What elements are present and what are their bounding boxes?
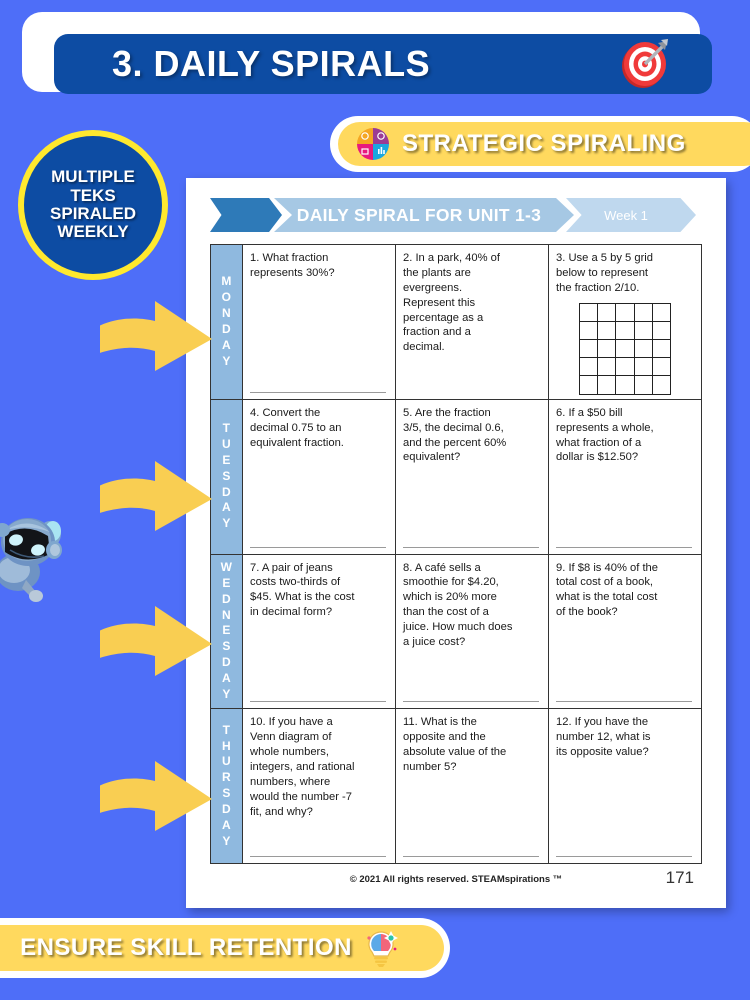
daily-spiral-table: MONDAY 1. What fraction represents 30%? … <box>210 244 702 864</box>
question-cell-11[interactable]: 11. What is the opposite and the absolut… <box>396 709 549 863</box>
question-cell-6[interactable]: 6. If a $50 bill represents a whole, wha… <box>549 400 701 554</box>
title-bar-outer: 3. DAILY SPIRALS <box>22 12 700 92</box>
grid-cell[interactable] <box>598 358 616 376</box>
answer-line[interactable] <box>250 392 386 393</box>
grid-cell[interactable] <box>653 322 671 340</box>
answer-line[interactable] <box>556 547 692 548</box>
question-text: 6. If a $50 bill represents a whole, wha… <box>556 406 694 466</box>
question-text: 10. If you have a Venn diagram of whole … <box>250 715 388 819</box>
badge-line-4: WEEKLY <box>57 223 128 241</box>
question-cell-10[interactable]: 10. If you have a Venn diagram of whole … <box>243 709 396 863</box>
badge-line-1: MULTIPLE <box>51 168 135 186</box>
title-bar: 3. DAILY SPIRALS <box>54 34 712 94</box>
grid-cell[interactable] <box>598 322 616 340</box>
answer-line[interactable] <box>556 856 692 857</box>
banner-segment-start <box>210 198 282 232</box>
worksheet-banner: DAILY SPIRAL FOR UNIT 1-3 Week 1 <box>210 198 700 232</box>
strategic-spiraling-label: STRATEGIC SPIRALING <box>402 130 686 158</box>
five-by-five-grid[interactable] <box>579 303 671 395</box>
curved-arrow-right-icon <box>100 600 220 680</box>
question-cell-2[interactable]: 2. In a park, 40% of the plants are ever… <box>396 245 549 399</box>
ensure-skill-retention-pill: ENSURE SKILL RETENTION <box>0 925 444 971</box>
steam-quadrant-logo-icon <box>356 127 390 161</box>
question-cell-4[interactable]: 4. Convert the decimal 0.75 to an equiva… <box>243 400 396 554</box>
answer-line[interactable] <box>556 701 692 702</box>
question-cell-5[interactable]: 5. Are the fraction 3/5, the decimal 0.6… <box>396 400 549 554</box>
grid-cell[interactable] <box>653 358 671 376</box>
grid-cell[interactable] <box>580 358 598 376</box>
question-text: 5. Are the fraction 3/5, the decimal 0.6… <box>403 406 541 466</box>
question-text: 2. In a park, 40% of the plants are ever… <box>403 251 541 355</box>
question-text: 8. A café sells a smoothie for $4.20, wh… <box>403 561 541 650</box>
grid-cell[interactable] <box>598 304 616 322</box>
ensure-skill-retention-pill-outer: ENSURE SKILL RETENTION <box>0 918 450 978</box>
grid-cell[interactable] <box>653 304 671 322</box>
lightbulb-brain-icon <box>364 929 398 967</box>
grid-cell[interactable] <box>580 340 598 358</box>
worksheet-footer: © 2021 All rights reserved. STEAMspirati… <box>186 874 726 894</box>
curved-arrow-right-icon <box>100 295 220 375</box>
grid-cell[interactable] <box>616 304 634 322</box>
banner-title-segment: DAILY SPIRAL FOR UNIT 1-3 <box>274 198 574 232</box>
target-dartboard-icon <box>618 37 672 91</box>
table-row: TUESDAY 4. Convert the decimal 0.75 to a… <box>211 400 701 555</box>
table-row: THURSDAY 10. If you have a Venn diagram … <box>211 709 701 863</box>
question-text: 1. What fraction represents 30%? <box>250 251 388 281</box>
question-cell-1[interactable]: 1. What fraction represents 30%? <box>243 245 396 399</box>
answer-line[interactable] <box>403 547 539 548</box>
grid-cell[interactable] <box>616 358 634 376</box>
grid-cell[interactable] <box>635 304 653 322</box>
question-text: 7. A pair of jeans costs two-thirds of $… <box>250 561 388 621</box>
ensure-skill-retention-label: ENSURE SKILL RETENTION <box>20 934 352 962</box>
grid-cell[interactable] <box>653 340 671 358</box>
question-text: 4. Convert the decimal 0.75 to an equiva… <box>250 406 388 451</box>
grid-cell[interactable] <box>580 322 598 340</box>
grid-cell[interactable] <box>616 322 634 340</box>
answer-line[interactable] <box>250 856 386 857</box>
badge-line-2: TEKS <box>70 187 115 205</box>
page-title: 3. DAILY SPIRALS <box>112 43 430 85</box>
answer-line[interactable] <box>250 547 386 548</box>
grid-cell[interactable] <box>635 322 653 340</box>
grid-cell[interactable] <box>635 340 653 358</box>
question-cell-3[interactable]: 3. Use a 5 by 5 grid below to represent … <box>549 245 701 399</box>
banner-title: DAILY SPIRAL FOR UNIT 1-3 <box>297 205 551 226</box>
table-row: MONDAY 1. What fraction represents 30%? … <box>211 245 701 400</box>
question-text: 9. If $8 is 40% of the total cost of a b… <box>556 561 694 621</box>
grid-cell[interactable] <box>580 304 598 322</box>
question-cell-8[interactable]: 8. A café sells a smoothie for $4.20, wh… <box>396 555 549 709</box>
worksheet-page: DAILY SPIRAL FOR UNIT 1-3 Week 1 MONDAY … <box>186 178 726 908</box>
grid-cell[interactable] <box>653 376 671 394</box>
curved-arrow-right-icon <box>100 455 220 535</box>
question-cell-12[interactable]: 12. If you have the number 12, what is i… <box>549 709 701 863</box>
banner-week-label: Week 1 <box>604 208 658 223</box>
grid-cell[interactable] <box>616 340 634 358</box>
grid-cell[interactable] <box>598 376 616 394</box>
grid-cell[interactable] <box>616 376 634 394</box>
strategic-spiraling-pill: STRATEGIC SPIRALING <box>338 122 750 166</box>
copyright-text: © 2021 All rights reserved. STEAMspirati… <box>350 874 563 885</box>
answer-line[interactable] <box>250 701 386 702</box>
grid-cell[interactable] <box>635 358 653 376</box>
curved-arrow-right-icon <box>100 755 220 835</box>
strategic-spiraling-pill-outer: STRATEGIC SPIRALING <box>330 116 750 172</box>
question-text: 3. Use a 5 by 5 grid below to represent … <box>556 251 694 296</box>
page-number: 171 <box>666 868 694 888</box>
multiple-teks-badge: MULTIPLE TEKS SPIRALED WEEKLY <box>18 130 168 280</box>
table-row: WEDNESDAY 7. A pair of jeans costs two-t… <box>211 555 701 710</box>
question-text: 11. What is the opposite and the absolut… <box>403 715 541 775</box>
robot-mascot-icon <box>0 500 78 610</box>
answer-line[interactable] <box>403 701 539 702</box>
answer-line[interactable] <box>403 856 539 857</box>
grid-cell[interactable] <box>598 340 616 358</box>
grid-cell[interactable] <box>580 376 598 394</box>
badge-line-3: SPIRALED <box>50 205 136 223</box>
question-text: 12. If you have the number 12, what is i… <box>556 715 694 760</box>
banner-week-segment: Week 1 <box>566 198 696 232</box>
grid-cell[interactable] <box>635 376 653 394</box>
question-cell-9[interactable]: 9. If $8 is 40% of the total cost of a b… <box>549 555 701 709</box>
question-cell-7[interactable]: 7. A pair of jeans costs two-thirds of $… <box>243 555 396 709</box>
